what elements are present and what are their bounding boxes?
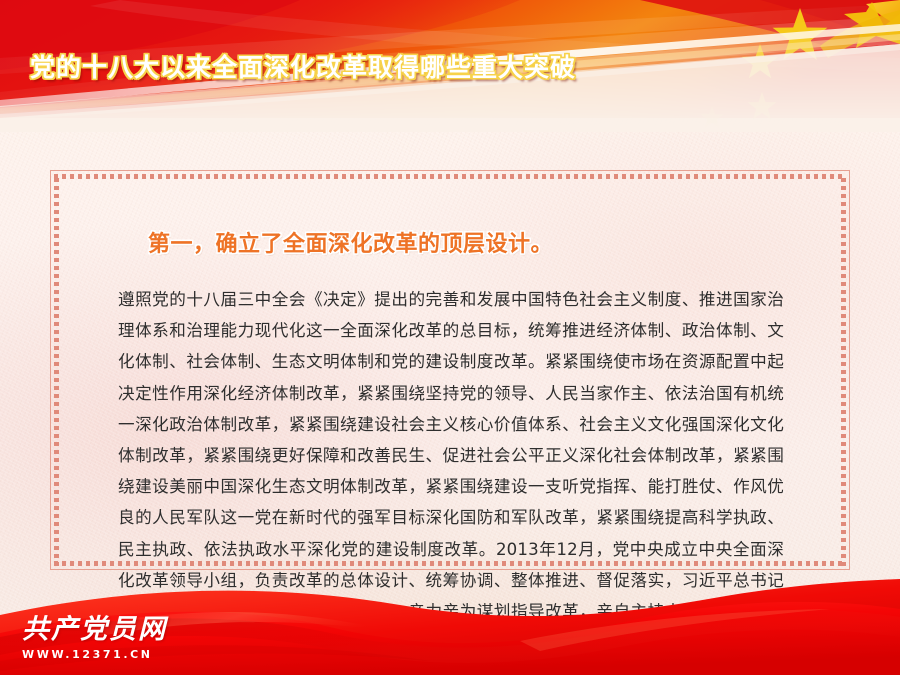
section-heading: 第一，确立了全面深化改革的顶层设计。 (148, 226, 786, 258)
content-panel: 第一，确立了全面深化改革的顶层设计。 遵照党的十八届三中全会《决定》提出的完善和… (50, 170, 850, 570)
page-background: 党的十八大以来全面深化改革取得哪些重大突破 第一，确立了全面深化改革的顶层设计。… (0, 0, 900, 675)
header-banner: 党的十八大以来全面深化改革取得哪些重大突破 (0, 0, 900, 132)
site-logo-text: 共产党员网 (22, 616, 167, 643)
panel-border-left (54, 174, 59, 566)
panel-border-right (841, 174, 846, 566)
page-title: 党的十八大以来全面深化改革取得哪些重大突破 (30, 48, 576, 84)
site-logo[interactable]: 共产党员网 WWW.12371.CN (22, 616, 167, 661)
panel-border-top (54, 174, 846, 179)
content-panel-inner: 第一，确立了全面深化改革的顶层设计。 遵照党的十八届三中全会《决定》提出的完善和… (54, 174, 846, 566)
site-logo-url: WWW.12371.CN (22, 648, 167, 661)
panel-body: 第一，确立了全面深化改革的顶层设计。 遵照党的十八届三中全会《决定》提出的完善和… (86, 200, 816, 566)
footer-banner: 共产党员网 WWW.12371.CN (0, 575, 900, 675)
